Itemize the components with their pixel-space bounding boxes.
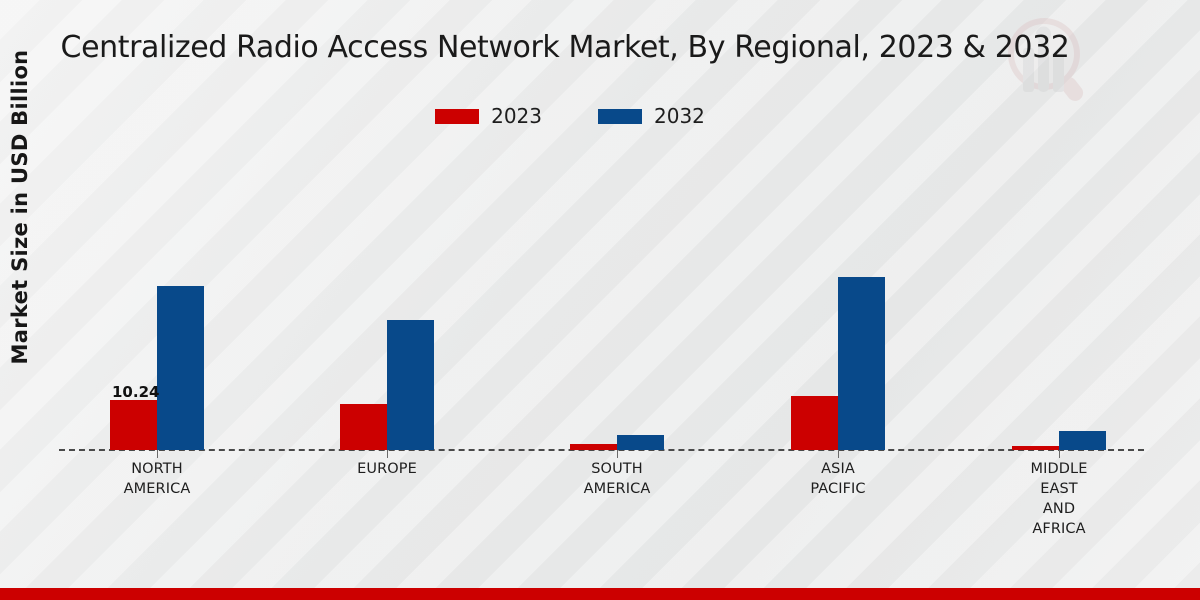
plot-area: 10.24 NORTH AMERICA EUROPE SOUTH AMERICA… [0,0,1200,600]
bar-2032-asia-pacific[interactable] [838,277,885,450]
bar-2023-north-america[interactable] [110,400,157,450]
x-label-line: NORTH [82,459,232,479]
x-label-line: SOUTH [542,459,692,479]
x-label-asia-pacific: ASIA PACIFIC [763,459,913,499]
x-label-north-america: NORTH AMERICA [82,459,232,499]
x-tick-middle-east-and-africa [1059,450,1060,458]
x-label-line: AMERICA [82,479,232,499]
bar-2032-north-america[interactable] [157,286,204,450]
bar-2023-middle-east-and-africa[interactable] [1012,446,1059,450]
x-tick-europe [387,450,388,458]
value-label-2023-north-america: 10.24 [112,383,159,401]
bar-2032-middle-east-and-africa[interactable] [1059,431,1106,450]
bottom-accent-band [0,588,1200,600]
x-label-europe: EUROPE [312,459,462,479]
x-label-line: AMERICA [542,479,692,499]
x-label-middle-east-and-africa: MIDDLE EAST AND AFRICA [984,459,1134,539]
chart-figure: Centralized Radio Access Network Market,… [0,0,1200,600]
bar-2023-south-america[interactable] [570,444,617,450]
bar-2032-europe[interactable] [387,320,434,450]
x-label-line: PACIFIC [763,479,913,499]
x-label-line: ASIA [763,459,913,479]
x-label-line: EAST [984,479,1134,499]
x-label-south-america: SOUTH AMERICA [542,459,692,499]
x-label-line: EUROPE [312,459,462,479]
x-label-line: AFRICA [984,519,1134,539]
x-label-line: MIDDLE [984,459,1134,479]
x-tick-north-america [157,450,158,458]
x-tick-south-america [617,450,618,458]
x-label-line: AND [984,499,1134,519]
x-tick-asia-pacific [838,450,839,458]
bar-2032-south-america[interactable] [617,435,664,450]
bar-2023-asia-pacific[interactable] [791,396,838,450]
bar-2023-europe[interactable] [340,404,387,450]
